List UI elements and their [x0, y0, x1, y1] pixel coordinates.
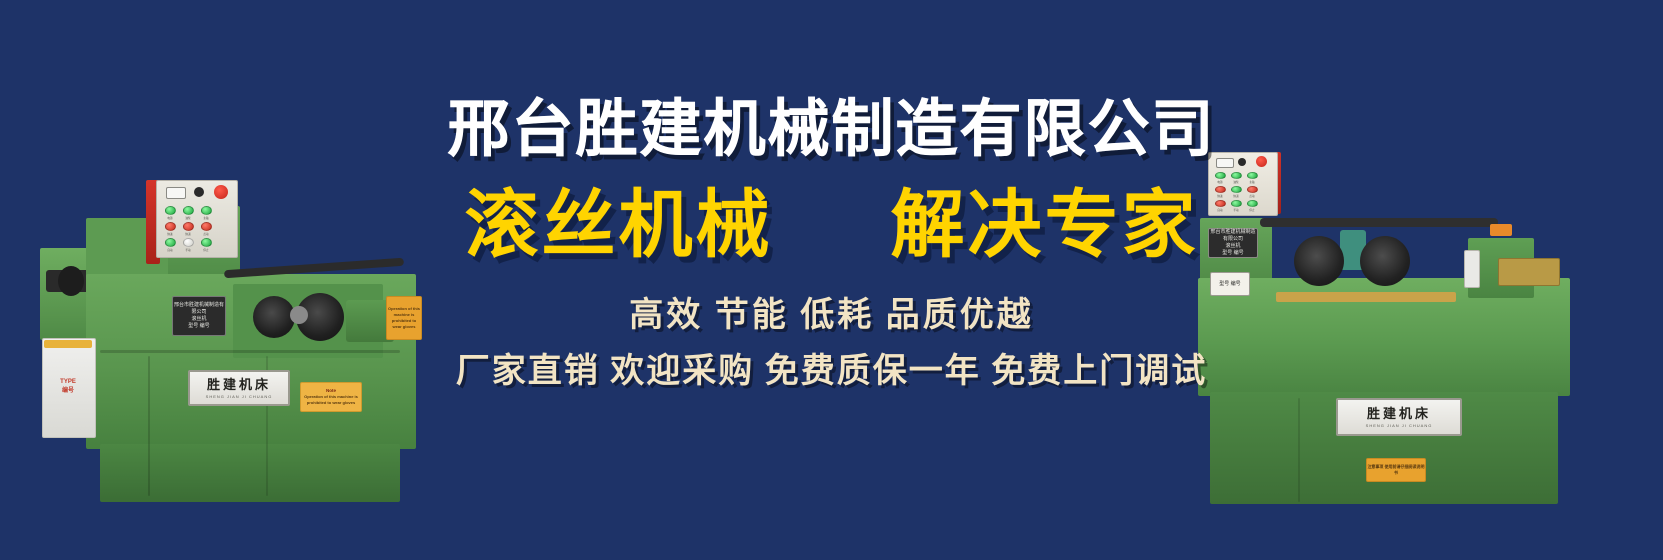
machine-left-hub [58, 266, 84, 296]
machine-right-nameplate-cn: 胜建机床 [1367, 407, 1431, 421]
machine-right-guide-bar [1260, 218, 1498, 227]
machine-left-orange-label-right: Operation of this machine is prohibited … [386, 296, 422, 340]
machine-left-panel-knob-icon [194, 187, 204, 197]
lamp-green-icon [165, 238, 176, 247]
lamp-red-icon [1215, 200, 1226, 207]
machine-left-orange-label-text: Operation of this machine is prohibited … [387, 306, 421, 330]
subtitle-line-2: 厂家直销 欢迎采购 免费质保一年 免费上门调试 [456, 352, 1208, 392]
lamp-red-icon [183, 222, 194, 231]
machine-right-warning-label: 注意事项 使用前请仔细阅读说明书 [1366, 458, 1426, 482]
machine-left-cabinet-line2: 编号 [62, 388, 74, 394]
machine-right-brass-plate [1498, 258, 1560, 286]
lamp-green-icon [1247, 172, 1258, 179]
machine-right-panel-display [1216, 158, 1234, 168]
lamp-green-icon [201, 238, 212, 247]
machine-right-spec-plate: 邢台市胜建机械制造有限公司 滚丝机 型号 编号 [1208, 228, 1258, 258]
company-title: 邢台胜建机械制造有限公司 [447, 96, 1215, 164]
lamp-white-icon [183, 238, 194, 247]
lamp-green-icon [1231, 186, 1242, 193]
machine-right-orange-fitting [1490, 224, 1512, 236]
machine-left-spec-line3: 型号 编号 [188, 323, 209, 330]
lamp-green-icon [183, 206, 194, 215]
machine-left-warning-label: Note Operation of this machine is prohib… [300, 382, 362, 412]
slogan-left: 滚丝机械 [465, 182, 773, 268]
machine-right-indicator-lamps: 电源 油泵 主轴 快进 快退 点动 自动 手动 停止 [1213, 172, 1259, 212]
machine-right-warning-text: 注意事项 使用前请仔细阅读说明书 [1367, 464, 1425, 476]
machine-left-roller-a [253, 296, 295, 338]
machine-right-panel-seam [1298, 398, 1300, 502]
machine-right-emergency-stop-button [1256, 156, 1267, 167]
lamp-red-icon [1247, 186, 1258, 193]
slogan-right: 解决专家 [891, 182, 1199, 268]
machine-right-roller-a [1294, 236, 1344, 286]
machine-left-spec-line1: 邢台市胜建机械制造有限公司 [173, 302, 225, 316]
lamp-red-icon [165, 222, 176, 231]
machine-left-warning-text: Operation of this machine is prohibited … [301, 394, 361, 406]
promo-banner: 电源 油泵 主轴 快进 快退 点动 自动 手动 停止 邢台市胜建机械制造有限公司… [0, 0, 1663, 560]
machine-left-nameplate-en: SHENG JIAN JI CHUANG [206, 394, 273, 399]
machine-right-parameter-plate: 型号 编号 [1210, 272, 1250, 296]
machine-left-spec-line2: 滚丝机 [191, 316, 206, 323]
machine-right-nameplate: 胜建机床 SHENG JIAN JI CHUANG [1336, 398, 1462, 436]
lamp-green-icon [1215, 172, 1226, 179]
machine-left-nameplate: 胜建机床 SHENG JIAN JI CHUANG [188, 370, 290, 406]
lamp-green-icon [165, 206, 176, 215]
machine-left-bed-line [100, 350, 400, 353]
machine-left-panel-display [166, 187, 186, 199]
thread-rolling-machine-left-image: 电源 油泵 主轴 快进 快退 点动 自动 手动 停止 邢台市胜建机械制造有限公司… [28, 88, 428, 478]
machine-right-valve [1464, 250, 1480, 288]
thread-rolling-machine-right-image: 电源 油泵 主轴 快进 快退 点动 自动 手动 停止 邢台市胜建机械制造有限公司… [1168, 120, 1598, 460]
machine-right-roller-b [1360, 236, 1410, 286]
machine-right-panel-knob-icon [1238, 158, 1246, 166]
lamp-red-icon [1215, 186, 1226, 193]
machine-left-emergency-stop-button [214, 185, 228, 199]
lamp-red-icon [201, 222, 212, 231]
machine-right-spec-line3: 型号 编号 [1222, 250, 1243, 257]
machine-left-cabinet-label: TYPE 编号 [46, 378, 90, 396]
lamp-green-icon [1231, 172, 1242, 179]
lamp-green-icon [1231, 200, 1242, 207]
machine-left-nameplate-cn: 胜建机床 [207, 378, 271, 392]
machine-left-roller-center [290, 306, 308, 324]
machine-right-spec-line2: 滚丝机 [1225, 243, 1240, 250]
machine-left-spec-plate: 邢台市胜建机械制造有限公司 滚丝机 型号 编号 [172, 296, 226, 336]
machine-right-parameter-line: 型号 编号 [1219, 281, 1240, 288]
slogan-row: 滚丝机械 解决专家 [465, 182, 1199, 268]
lamp-green-icon [201, 206, 212, 215]
machine-left-panel-seam [148, 356, 150, 496]
machine-right-nameplate-en: SHENG JIAN JI CHUANG [1366, 423, 1433, 428]
machine-left-indicator-lamps: 电源 油泵 主轴 快进 快退 点动 自动 手动 停止 [162, 206, 214, 252]
machine-left-cabinet-strip [44, 340, 92, 348]
machine-right-work-rail [1276, 292, 1456, 302]
machine-right-spec-line1: 邢台市胜建机械制造有限公司 [1209, 229, 1257, 243]
subtitle-line-1: 高效 节能 低耗 品质优越 [629, 296, 1034, 336]
lamp-green-icon [1247, 200, 1258, 207]
machine-left-skirt [100, 444, 400, 502]
machine-left-cabinet-line1: TYPE [60, 379, 76, 385]
